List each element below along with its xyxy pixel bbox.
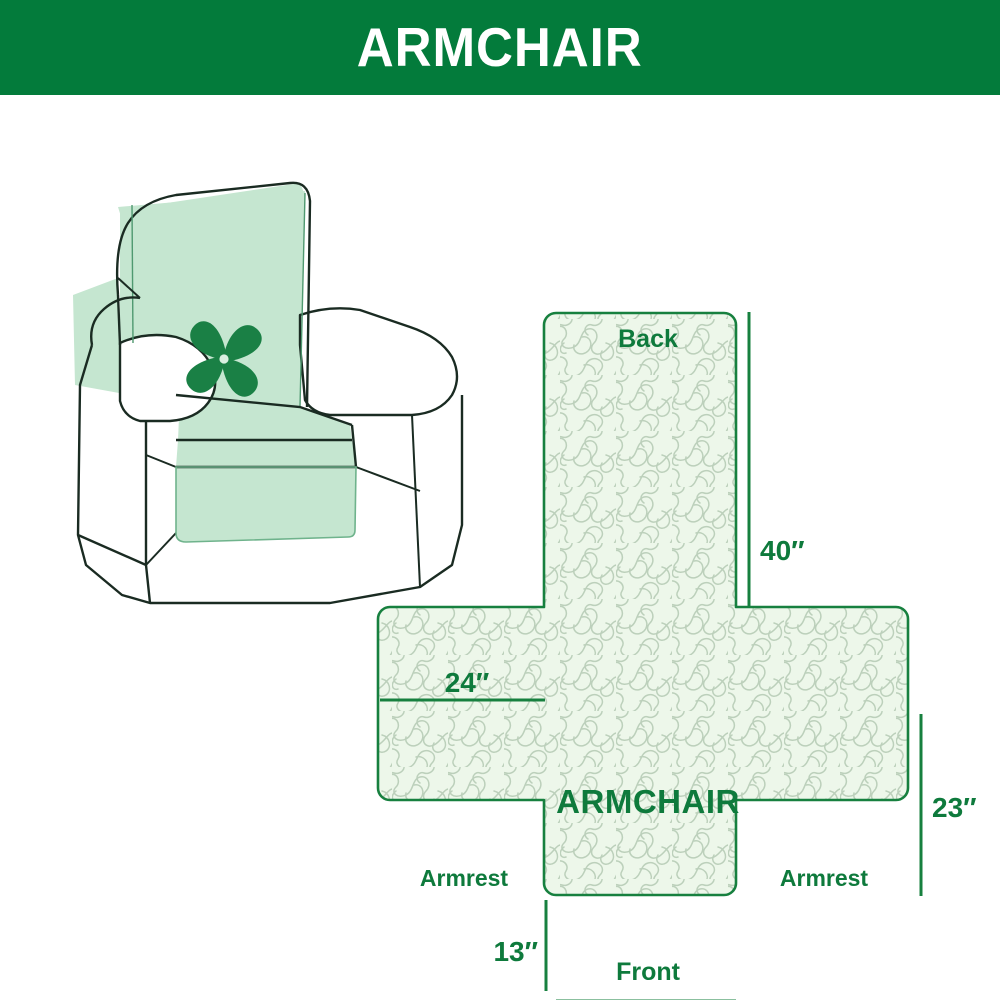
cover-layout-diagram: Back ARMCHAIR Armrest Armrest Front 40″ … [0, 95, 1000, 1000]
dimension-label-front-height: 13″ [493, 936, 538, 967]
panel-label-front: Front [616, 958, 681, 986]
panel-label-armrest-left: Armrest [420, 865, 509, 891]
panel-label-armrest-right: Armrest [780, 865, 869, 891]
dimension-label-back-width: 24″ [445, 667, 490, 698]
page-title: ARMCHAIR [357, 20, 643, 75]
panel-label-center: ARMCHAIR [556, 783, 740, 820]
panel-label-back: Back [618, 325, 678, 353]
dimension-label-armrest-height: 23″ [932, 792, 977, 823]
illustration-stage: Back ARMCHAIR Armrest Armrest Front 40″ … [0, 95, 1000, 1000]
dimension-label-back-height: 40″ [760, 535, 805, 566]
page-header-banner: ARMCHAIR [0, 0, 1000, 95]
